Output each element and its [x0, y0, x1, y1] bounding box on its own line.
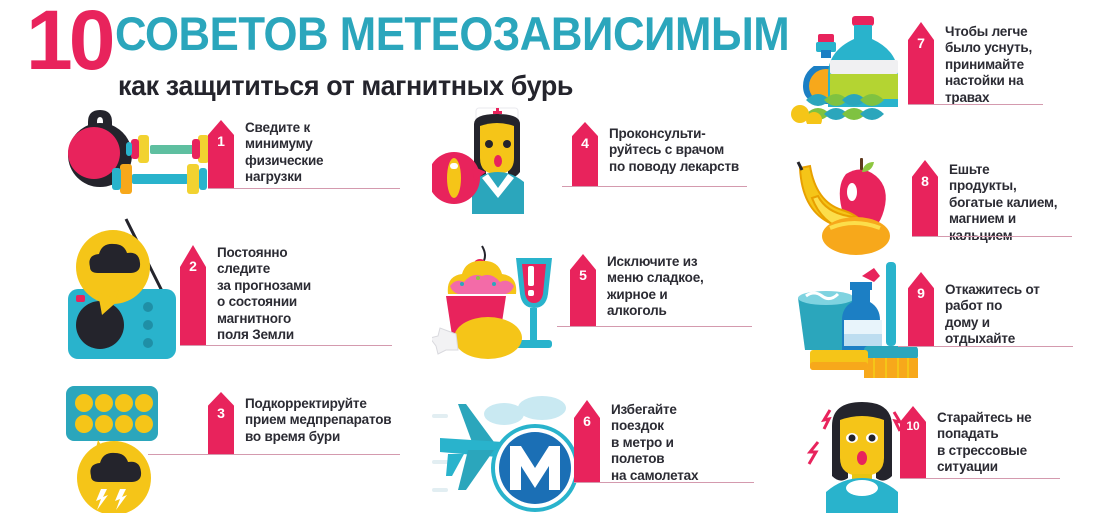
herbal-tincture-bottles-icon [790, 4, 925, 124]
tip-number-6: 6 [574, 414, 600, 428]
tip-text-8: Ешьте продукты, богатые калием, магнием … [949, 162, 1103, 244]
cupcake-wine-chicken-icon [432, 242, 567, 367]
tip-number-9: 9 [908, 286, 934, 300]
tip-card-8: 8 Ешьте продукты, богатые калием, магние… [790, 150, 1103, 260]
tip-rule-1 [208, 188, 400, 189]
radio-storm-forecast-icon [60, 215, 195, 363]
tip-rule-6 [574, 482, 754, 483]
tip-rule-3 [148, 454, 400, 455]
tip-rule-10 [900, 478, 1060, 479]
tip-number-3: 3 [208, 406, 234, 420]
tip-number-4: 4 [572, 136, 598, 150]
tip-badge-8: 8 [912, 160, 938, 236]
tip-number-2: 2 [180, 259, 206, 273]
headline-number: 10 [26, 4, 111, 78]
tip-badge-10: 10 [900, 406, 926, 478]
title-row: 10 СОВЕТОВ МЕТЕОЗАВИСИМЫМ [26, 4, 766, 78]
tip-badge-7: 7 [908, 22, 934, 104]
tip-card-10: 10 Старайтесь не попадать в стрессовые с… [790, 392, 1103, 513]
infographic-poster: 10 СОВЕТОВ МЕТЕОЗАВИСИМЫМ как защититься… [0, 0, 1103, 513]
tip-badge-9: 9 [908, 272, 934, 346]
tip-rule-7 [908, 104, 1043, 105]
tip-card-6: 6 Избегайте поездок в метро и полетов на… [432, 392, 762, 513]
tip-badge-3: 3 [208, 392, 234, 454]
tip-badge-2: 2 [180, 245, 206, 345]
pill-blister-storm-icon [60, 378, 195, 513]
tip-text-6: Избегайте поездок в метро и полетов на с… [611, 402, 781, 484]
tip-badge-6: 6 [574, 400, 600, 482]
tip-badge-4: 4 [572, 122, 598, 186]
tip-text-7: Чтобы легче было уснуть, принимайте наст… [945, 24, 1103, 106]
tip-badge-5: 5 [570, 254, 596, 326]
tip-number-1: 1 [208, 134, 234, 148]
nurse-doctor-icon [432, 106, 562, 214]
airplane-metro-icon [432, 392, 582, 513]
tip-number-8: 8 [912, 174, 938, 188]
tip-card-4: 4 Проконсульти- руйтесь с врачом по пово… [432, 106, 762, 214]
tip-number-5: 5 [570, 268, 596, 282]
tip-badge-1: 1 [208, 120, 234, 188]
tip-card-9: 9 Откажитесь от работ по дому и отдыхайт… [790, 258, 1103, 383]
tip-card-2: 2 Постоянно следите за прогнозами о сост… [60, 215, 400, 363]
kettlebell-dumbbells-icon [60, 108, 210, 200]
tip-text-1: Сведите к минимуму физические нагрузки [245, 120, 405, 186]
tip-text-10: Старайтесь не попадать в стрессовые ситу… [937, 410, 1095, 476]
tip-rule-2 [180, 345, 392, 346]
tip-rule-8 [912, 236, 1072, 237]
header: 10 СОВЕТОВ МЕТЕОЗАВИСИМЫМ как защититься… [26, 4, 766, 108]
tip-card-1: 1 Сведите к минимуму физические нагрузки [60, 108, 400, 208]
tip-rule-9 [898, 346, 1073, 347]
bucket-spray-mop-icon [790, 258, 925, 383]
tip-text-9: Откажитесь от работ по дому и отдыхайте [945, 282, 1103, 348]
page-subtitle: как защититься от магнитных бурь [118, 70, 573, 102]
tip-text-4: Проконсульти- руйтесь с врачом по поводу… [609, 126, 789, 175]
tip-text-3: Подкорректируйте прием медпрепаратов во … [245, 396, 430, 445]
tip-number-7: 7 [908, 36, 934, 50]
tip-rule-4 [562, 186, 747, 187]
page-title: СОВЕТОВ МЕТЕОЗАВИСИМЫМ [115, 10, 789, 57]
tip-card-3: 3 Подкорректируйте прием медпрепаратов в… [60, 378, 400, 513]
tip-text-2: Постоянно следите за прогнозами о состоя… [217, 245, 392, 344]
tip-rule-5 [557, 326, 752, 327]
tip-card-7: 7 Чтобы легче было уснуть, принимайте на… [790, 4, 1103, 124]
tip-number-10: 10 [900, 420, 926, 432]
tip-text-5: Исключите из меню сладкое, жирное и алко… [607, 254, 777, 320]
banana-apple-potato-icon [790, 150, 925, 260]
tip-card-5: 5 Исключите из меню сладкое, жирное и ал… [432, 242, 762, 367]
